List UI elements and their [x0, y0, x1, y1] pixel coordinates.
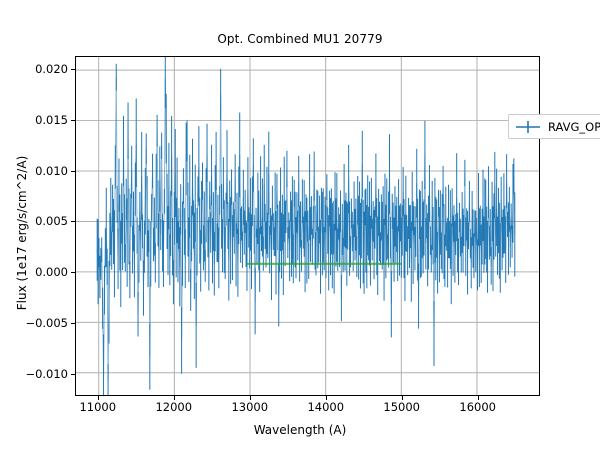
- x-tick-mark: [174, 396, 175, 400]
- y-tick-label: 0.000: [35, 265, 68, 279]
- page-title: Opt. Combined MU1 20779: [0, 32, 600, 46]
- x-tick-mark: [98, 396, 99, 400]
- x-tick-mark: [250, 396, 251, 400]
- legend[interactable]: RAVG_OPT: [508, 114, 600, 139]
- x-tick-label: 14000: [307, 400, 344, 414]
- x-tick-mark: [478, 396, 479, 400]
- matplotlib-figure: Opt. Combined MU1 20779 0.0200.0150.0100…: [0, 0, 600, 450]
- x-tick-label: 13000: [231, 400, 268, 414]
- x-tick-mark: [402, 396, 403, 400]
- y-tick-label: −0.005: [25, 316, 68, 330]
- x-tick-label: 16000: [459, 400, 496, 414]
- x-tick-label: 15000: [383, 400, 420, 414]
- plot-axes: RAVG_OPT: [75, 56, 540, 396]
- y-tick-label: 0.005: [35, 214, 68, 228]
- x-tick-label: 11000: [79, 400, 116, 414]
- x-tick-mark: [326, 396, 327, 400]
- legend-item-label: RAVG_OPT: [548, 120, 600, 134]
- y-tick-label: 0.010: [35, 164, 68, 178]
- x-axis-label: Wavelength (A): [0, 423, 600, 437]
- errorbar-marker-icon: [515, 120, 541, 134]
- y-tick-label: 0.015: [35, 113, 68, 127]
- y-axis-label: Flux (1e17 erg/s/cm^2/A): [15, 133, 29, 333]
- x-tick-label: 12000: [155, 400, 192, 414]
- y-tick-label: −0.010: [25, 367, 68, 381]
- y-tick-label: 0.020: [35, 62, 68, 76]
- y-axis-tick-labels: 0.0200.0150.0100.0050.000−0.005−0.010: [0, 0, 68, 450]
- model-continuum-line: [76, 57, 539, 395]
